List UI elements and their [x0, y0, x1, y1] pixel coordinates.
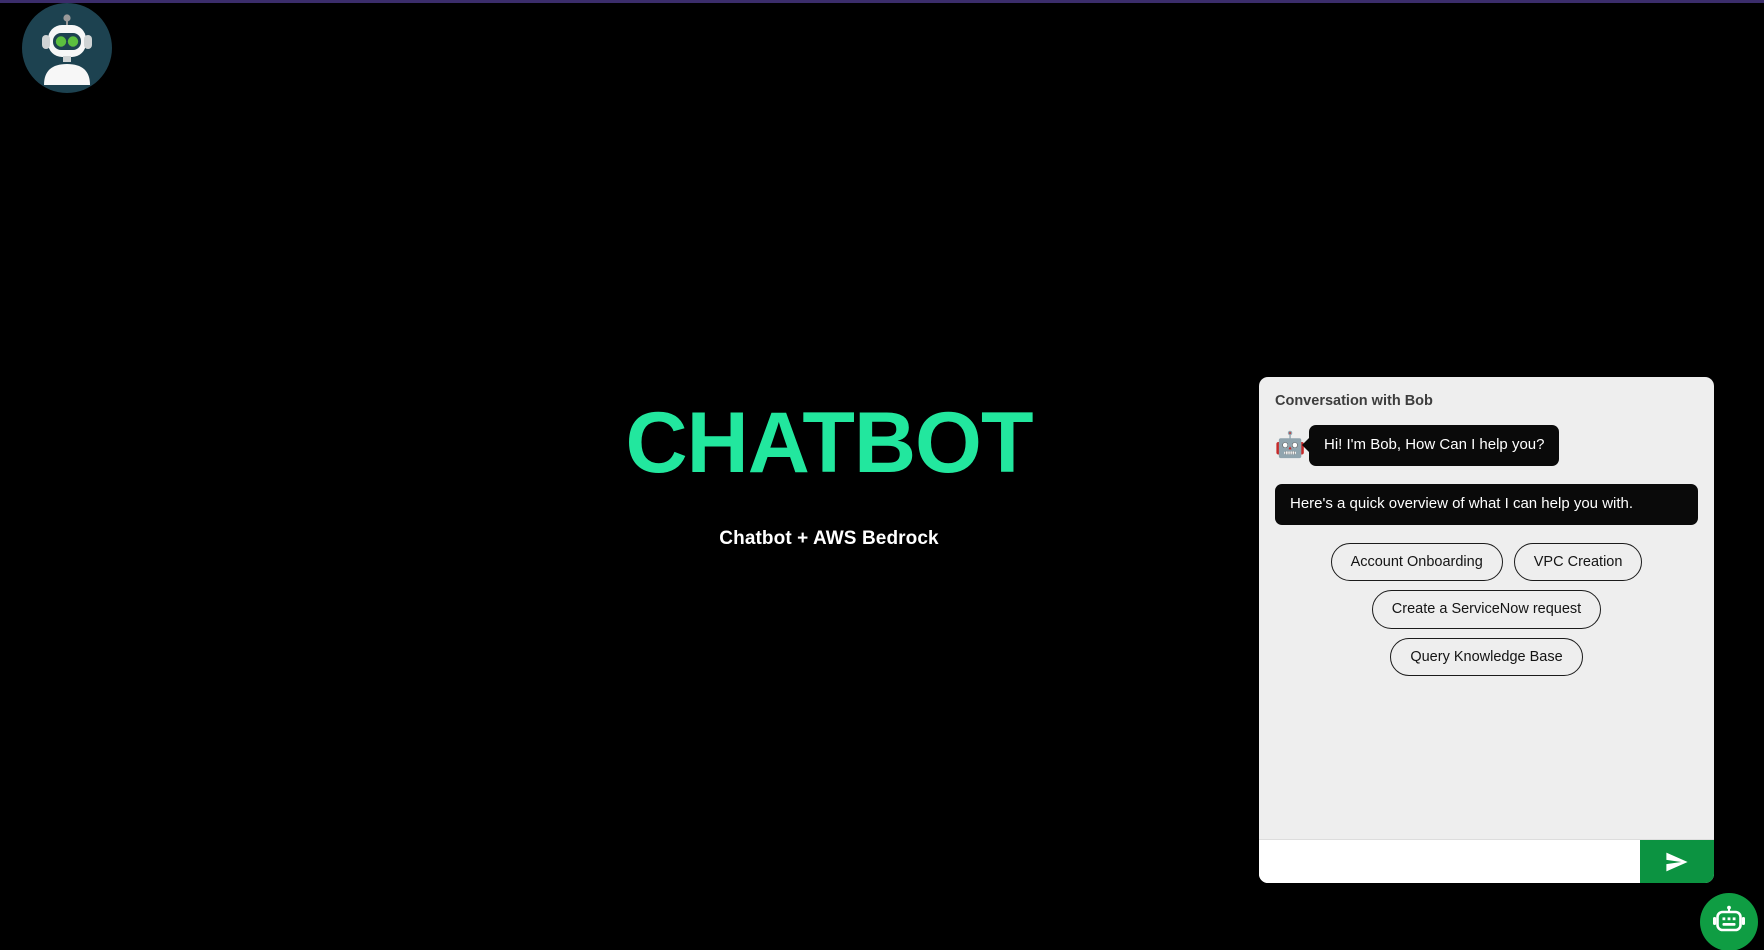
message-bubble-greeting: Hi! I'm Bob, How Can I help you?: [1309, 425, 1559, 466]
page-root: CHATBOT Chatbot + AWS Bedrock Conversati…: [0, 0, 1764, 950]
robot-avatar-icon: [30, 11, 104, 85]
chat-header-title: Conversation with Bob: [1259, 377, 1714, 413]
send-paper-plane-icon: [1664, 849, 1690, 875]
page-subtitle: Chatbot + AWS Bedrock: [719, 528, 938, 550]
robot-chat-icon: [1712, 905, 1746, 939]
suggestion-create-servicenow-request[interactable]: Create a ServiceNow request: [1372, 590, 1601, 629]
message-row-greeting: 🤖 Hi! I'm Bob, How Can I help you?: [1275, 425, 1698, 466]
chat-launcher-button[interactable]: [1700, 893, 1758, 950]
brand-logo[interactable]: [22, 3, 112, 93]
send-button[interactable]: [1640, 840, 1714, 883]
chat-composer: [1259, 839, 1714, 883]
suggestion-vpc-creation[interactable]: VPC Creation: [1514, 543, 1643, 582]
message-input[interactable]: [1259, 840, 1640, 883]
suggestion-query-knowledge-base[interactable]: Query Knowledge Base: [1390, 638, 1582, 677]
page-title: CHATBOT: [625, 400, 1032, 486]
top-accent-bar: [0, 0, 1764, 3]
suggestion-list: Account Onboarding VPC Creation Create a…: [1275, 543, 1698, 677]
message-bubble-overview: Here's a quick overview of what I can he…: [1275, 484, 1698, 525]
suggestion-account-onboarding[interactable]: Account Onboarding: [1331, 543, 1503, 582]
bot-robot-emoji-icon: 🤖: [1275, 430, 1305, 460]
chat-widget: Conversation with Bob 🤖 Hi! I'm Bob, How…: [1259, 377, 1714, 883]
chat-message-list[interactable]: 🤖 Hi! I'm Bob, How Can I help you? Here'…: [1259, 413, 1714, 839]
